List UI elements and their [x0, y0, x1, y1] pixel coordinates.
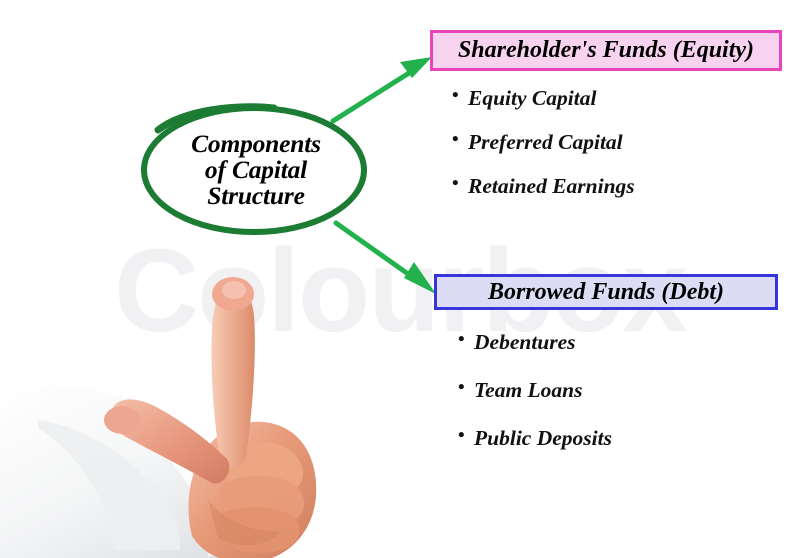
list-item: Public Deposits	[458, 426, 612, 451]
center-title-line-1: Components	[191, 131, 321, 157]
equity-item-label: Preferred Capital	[468, 130, 623, 154]
list-item: Retained Earnings	[452, 174, 635, 199]
debt-item-label: Debentures	[474, 330, 576, 354]
debt-heading-label: Borrowed Funds (Debt)	[488, 279, 724, 306]
center-node: Components of Capital Structure	[138, 100, 374, 240]
debt-item-label: Team Loans	[474, 378, 583, 402]
center-node-title: Components of Capital Structure	[138, 100, 374, 240]
center-title-line-3: Structure	[207, 183, 304, 209]
equity-item-label: Retained Earnings	[468, 174, 635, 198]
debt-item-label: Public Deposits	[474, 426, 612, 450]
list-item: Team Loans	[458, 378, 612, 403]
list-item: Equity Capital	[452, 86, 635, 111]
equity-heading-label: Shareholder's Funds (Equity)	[458, 37, 754, 64]
debt-heading-box[interactable]: Borrowed Funds (Debt)	[434, 274, 778, 310]
equity-heading-box[interactable]: Shareholder's Funds (Equity)	[430, 30, 782, 71]
list-item: Preferred Capital	[452, 130, 635, 155]
equity-item-label: Equity Capital	[468, 86, 596, 110]
list-item: Debentures	[458, 330, 612, 355]
diagram-canvas: Colourbox	[0, 0, 800, 558]
equity-item-list: Equity Capital Preferred Capital Retaine…	[452, 86, 635, 218]
debt-item-list: Debentures Team Loans Public Deposits	[458, 330, 612, 474]
center-title-line-2: of Capital	[205, 157, 307, 183]
